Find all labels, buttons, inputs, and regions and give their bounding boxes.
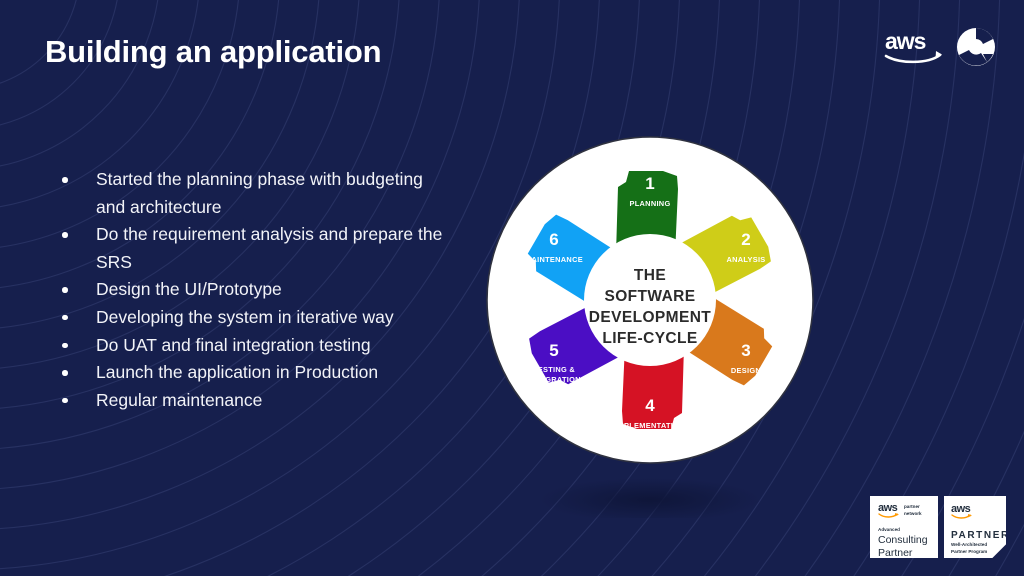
badge-program-line1: Well-Architected bbox=[951, 542, 1000, 548]
diagram-center-line-3: DEVELOPMENT bbox=[589, 309, 712, 326]
bullet-list: Started the planning phase with budgetin… bbox=[52, 166, 452, 414]
bullet-dot-icon bbox=[62, 398, 68, 404]
diagram-shadow bbox=[540, 478, 760, 518]
bullet-dot-icon bbox=[62, 232, 68, 238]
badge-partner-label: PARTNER bbox=[951, 530, 1000, 541]
list-item-label: Do UAT and final integration testing bbox=[96, 335, 371, 355]
segment-5-label-line1: TESTING & bbox=[533, 365, 575, 374]
sdlc-diagram: 1 PLANNING 2 ANALYSIS 3 DESIGN 4 IMPLEME… bbox=[478, 128, 822, 518]
badge-logo-row: aws partner network bbox=[878, 503, 931, 519]
list-item-label: Do the requirement analysis and prepare … bbox=[96, 224, 442, 272]
list-item-label: Started the planning phase with budgetin… bbox=[96, 169, 423, 217]
aws-circular-badge-icon bbox=[956, 27, 996, 67]
badge-tier-label: Advanced bbox=[878, 527, 931, 533]
list-item: Started the planning phase with budgetin… bbox=[52, 166, 452, 221]
badge-aws-logo: aws bbox=[878, 503, 900, 519]
segment-1-number: 1 bbox=[645, 174, 654, 193]
bullet-dot-icon bbox=[62, 177, 68, 183]
badge-title-line2: Partner bbox=[878, 547, 931, 559]
svg-text:aws: aws bbox=[885, 29, 926, 54]
list-item: Design the UI/Prototype bbox=[52, 276, 452, 304]
segment-1-label: PLANNING bbox=[630, 199, 671, 208]
segment-3-label: DESIGN bbox=[731, 366, 761, 375]
bullet-dot-icon bbox=[62, 343, 68, 349]
slide-canvas: Building an application Started the plan… bbox=[0, 0, 1024, 576]
bullet-dot-icon bbox=[62, 315, 68, 321]
badge-title-line1: Consulting bbox=[878, 534, 931, 546]
list-item-label: Design the UI/Prototype bbox=[96, 279, 282, 299]
badge-network-line2: network bbox=[904, 510, 922, 517]
bullet-dot-icon bbox=[62, 287, 68, 293]
aws-logo: aws bbox=[884, 27, 996, 67]
aws-smile-icon: aws bbox=[884, 29, 946, 65]
list-item-label: Regular maintenance bbox=[96, 390, 262, 410]
list-item-label: Developing the system in iterative way bbox=[96, 307, 394, 327]
diagram-center-line-2: SOFTWARE bbox=[604, 288, 695, 305]
badge-network-text: partner network bbox=[904, 503, 922, 516]
list-item: Launch the application in Production bbox=[52, 359, 452, 387]
list-item: Regular maintenance bbox=[52, 387, 452, 415]
list-item: Developing the system in iterative way bbox=[52, 304, 452, 332]
segment-5-label-line2: INTEGRATION bbox=[527, 375, 581, 384]
diagram-center-line-1: THE bbox=[634, 267, 666, 284]
partner-badges: aws partner network Advanced Consulting … bbox=[870, 496, 1006, 558]
segment-4-number: 4 bbox=[645, 396, 655, 415]
badge-network-line1: partner bbox=[904, 503, 922, 510]
badge-aws-wordmark: aws bbox=[878, 503, 900, 513]
segment-3-number: 3 bbox=[741, 341, 750, 360]
segment-4-label: IMPLEMENTATION bbox=[615, 421, 685, 430]
segment-6-number: 6 bbox=[549, 230, 558, 249]
diagram-center-line-4: LIFE-CYCLE bbox=[602, 330, 697, 347]
segment-2-label: ANALYSIS bbox=[726, 255, 765, 264]
page-title: Building an application bbox=[45, 34, 381, 70]
bullet-dot-icon bbox=[62, 370, 68, 376]
badge-aws-wordmark: aws bbox=[951, 504, 1000, 514]
segment-6-label: MAINTENANCE bbox=[525, 255, 583, 264]
aws-well-architected-partner-badge: aws PARTNER Well-Architected Partner Pro… bbox=[944, 496, 1006, 558]
aws-consulting-partner-badge: aws partner network Advanced Consulting … bbox=[870, 496, 938, 558]
list-item: Do the requirement analysis and prepare … bbox=[52, 221, 452, 276]
list-item: Do UAT and final integration testing bbox=[52, 332, 452, 360]
badge-aws-logo: aws bbox=[951, 504, 1000, 520]
badge-program-line2: Partner Program bbox=[951, 549, 1000, 555]
segment-5-number: 5 bbox=[549, 341, 558, 360]
segment-2-number: 2 bbox=[741, 230, 750, 249]
list-item-label: Launch the application in Production bbox=[96, 362, 378, 382]
